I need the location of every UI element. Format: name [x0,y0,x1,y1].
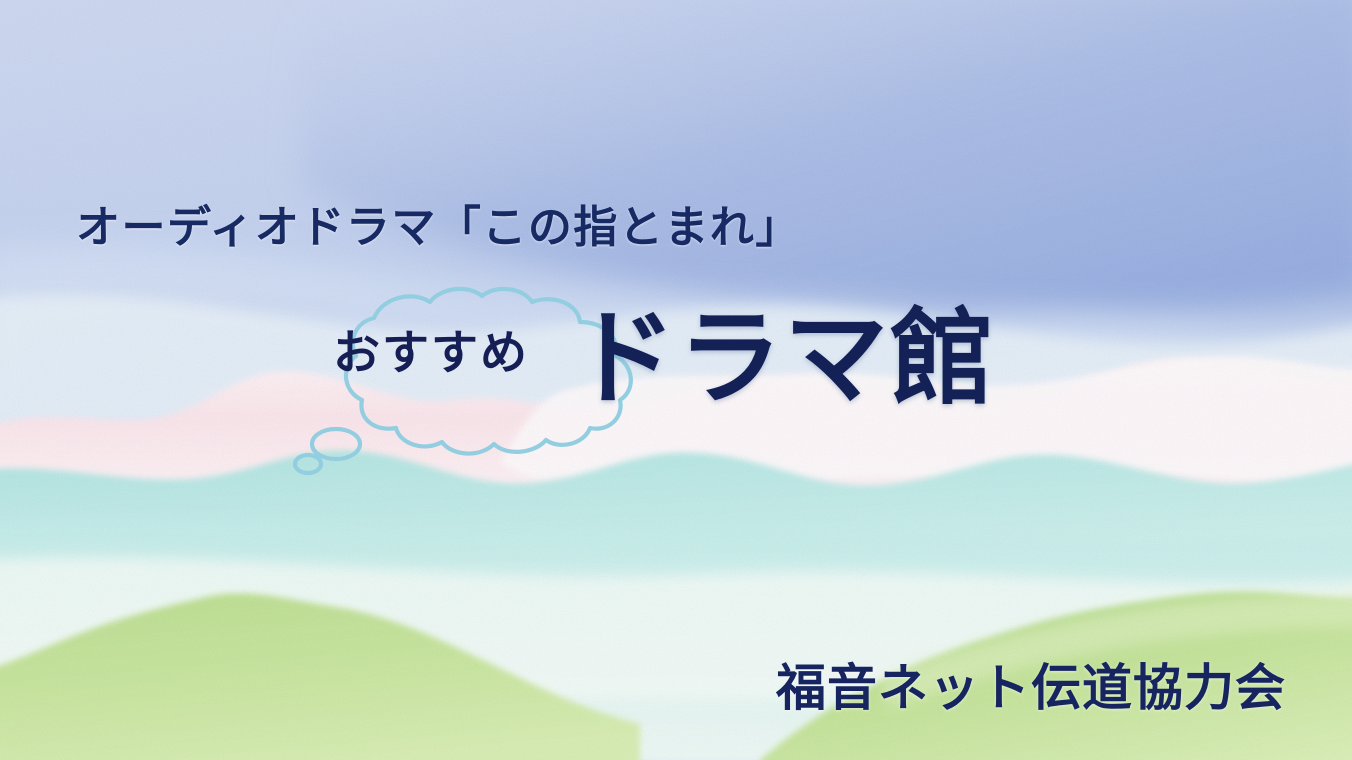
organization-name: 福音ネット伝道協力会 [776,648,1286,720]
program-title: オーディオドラマ「この指とまれ」 [76,191,801,255]
bubble-label: おすすめ [333,314,529,383]
main-title: ドラマ館 [572,306,996,410]
slide-canvas: オーディオドラマ「この指とまれ」 おすすめ ドラマ館 福音ネット伝道協力会 [0,0,1352,760]
